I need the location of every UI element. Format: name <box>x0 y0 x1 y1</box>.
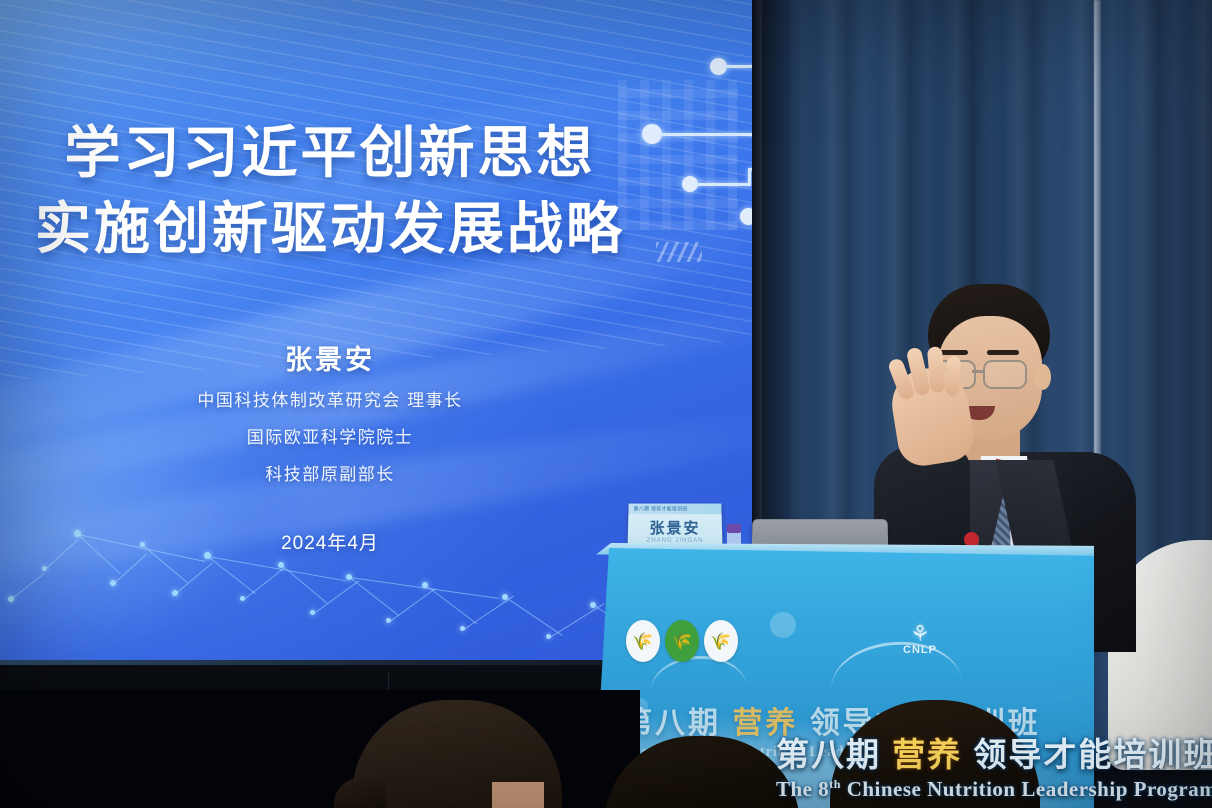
podium-bubble <box>770 612 796 638</box>
audience-neck <box>492 782 544 808</box>
speaker-ear <box>1034 364 1051 390</box>
overlay-prefix: 第八期 <box>776 736 881 773</box>
organization-logo-2: 🌾 <box>665 620 699 662</box>
wheat-icon: 🌾 <box>671 633 692 650</box>
slide-affiliation-1: 中国科技体制改革研究会 理事长 <box>0 386 660 411</box>
eyeglasses-bridge <box>972 370 984 373</box>
nameplate-name: 张景安 <box>628 517 722 538</box>
slide-affiliation-2: 国际欧亚科学院院士 <box>0 423 660 448</box>
conference-photo: 学习习近平创新思想 实施创新驱动发展战略 张景安 中国科技体制改革研究会 理事长… <box>0 0 1212 808</box>
slide-affiliation-3: 科技部原副部长 <box>0 460 660 485</box>
water-bottle-cap <box>727 524 741 533</box>
nameplate-pinyin: ZHANG JINGAN <box>628 538 723 544</box>
slide-title-line1: 学习习近平创新思想 <box>0 120 660 186</box>
circuit-node <box>710 58 727 75</box>
podium-logo-row: 🌾 🌾 🌾 <box>626 620 738 662</box>
circuit-wire <box>660 133 762 136</box>
chevron-icon <box>656 242 702 262</box>
overlay-accent: 营养 <box>892 736 962 773</box>
organization-logo-3: 🌾 <box>704 620 738 662</box>
circuit-wire <box>696 183 750 186</box>
wheat-icon: 🌾 <box>632 633 653 650</box>
cnlp-label: CNLP <box>890 644 950 656</box>
overlay-en-sup: th <box>829 777 841 791</box>
microphone-icon <box>964 532 979 547</box>
slide-speaker-name: 张景安 <box>0 338 660 377</box>
overlay-suffix: 领导才能培训班 <box>973 736 1212 773</box>
slide-date: 2024年4月 <box>0 528 660 555</box>
overlay-en-pre: The 8 <box>776 777 829 801</box>
eyeglasses-icon <box>983 360 1027 389</box>
overlay-en-post: Chinese Nutrition Leadership Programme <box>841 777 1212 801</box>
cnlp-logo: ⚘ CNLP <box>890 624 950 656</box>
circuit-wire <box>748 170 751 186</box>
organization-logo-1: 🌾 <box>626 620 660 662</box>
speaker-eyebrow <box>987 350 1019 355</box>
overlay-watermark: 第八期 营养 领导才能培训班 The 8th Chinese Nutrition… <box>776 728 1212 802</box>
cnlp-mark-icon: ⚘ <box>890 624 950 644</box>
overlay-title-cn: 第八期 营养 领导才能培训班 <box>776 728 1212 776</box>
slide-title-line2: 实施创新驱动发展战略 <box>0 196 660 262</box>
wheat-icon: 🌾 <box>710 633 731 650</box>
overlay-title-en: The 8th Chinese Nutrition Leadership Pro… <box>776 777 1212 802</box>
nameplate-header: 第八期 领导才能培训班 <box>628 504 721 515</box>
